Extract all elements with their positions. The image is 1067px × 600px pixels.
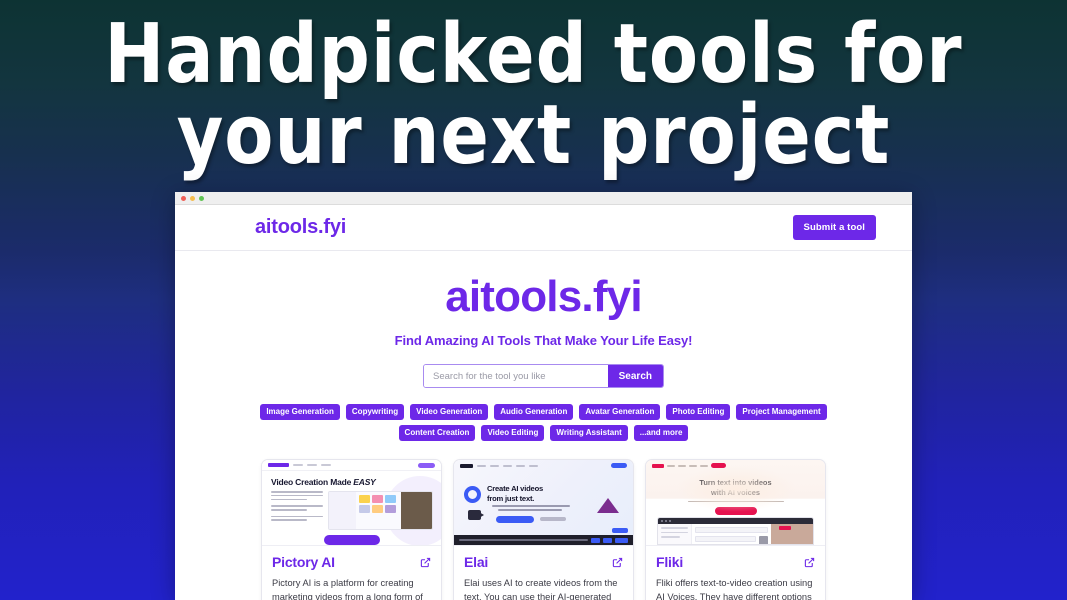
close-window-button[interactable] [181,196,186,201]
category-tag[interactable]: Copywriting [346,404,404,420]
category-tag[interactable]: Photo Editing [666,404,730,420]
thumb-headline: Create AI videos from just text. [487,484,543,504]
external-link-icon[interactable] [420,557,431,568]
elai-logo-icon [460,464,473,468]
page-content: aitools.fyi Find Amazing AI Tools That M… [175,251,912,600]
tool-card[interactable]: Video Creation Made EASY [261,459,442,600]
category-tag[interactable]: ...and more [634,425,689,441]
search-button[interactable]: Search [608,365,663,387]
tool-description: Pictory AI is a platform for creating ma… [272,577,431,600]
tool-description: Fliki offers text-to-video creation usin… [656,577,815,600]
tool-title[interactable]: Fliki [656,554,683,570]
page-title: aitools.fyi [175,275,912,319]
hero-line-2: your next project [74,95,993,176]
tool-title[interactable]: Pictory AI [272,554,335,570]
category-tag-list: Image Generation Copywriting Video Gener… [175,404,912,441]
tool-thumbnail: Video Creation Made EASY [262,460,441,546]
category-tag[interactable]: Video Generation [410,404,488,420]
category-tag[interactable]: Audio Generation [494,404,573,420]
page-subtitle: Find Amazing AI Tools That Make Your Lif… [175,333,912,348]
search-bar: Search [423,364,664,388]
browser-window: aitools.fyi Submit a tool aitools.fyi Fi… [175,192,912,600]
hero-line-1: Handpicked tools for [74,14,993,95]
category-tag[interactable]: Project Management [736,404,826,420]
browser-titlebar [175,192,912,205]
submit-a-tool-button[interactable]: Submit a tool [793,215,876,240]
category-tag[interactable]: Video Editing [481,425,544,441]
tool-description: Elai uses AI to create videos from the t… [464,577,623,600]
minimize-window-button[interactable] [190,196,195,201]
external-link-icon[interactable] [612,557,623,568]
pictory-logo-icon [268,463,289,467]
site-navbar: aitools.fyi Submit a tool [175,205,912,251]
category-tag[interactable]: Writing Assistant [550,425,627,441]
external-link-icon[interactable] [804,557,815,568]
tool-card[interactable]: Turn text into videos with AI voices [645,459,826,600]
category-tag[interactable]: Content Creation [399,425,476,441]
tool-title[interactable]: Elai [464,554,488,570]
category-tag[interactable]: Avatar Generation [579,404,660,420]
fliki-logo-icon [652,464,664,468]
search-input[interactable] [424,365,608,387]
tool-thumbnail: Turn text into videos with AI voices [646,460,825,546]
tool-thumbnail: Create AI videos from just text. [454,460,633,546]
hero-headline: Handpicked tools for your next project [0,14,1067,176]
tool-card[interactable]: Create AI videos from just text. [453,459,634,600]
category-tag[interactable]: Image Generation [260,404,340,420]
maximize-window-button[interactable] [199,196,204,201]
brand-logo[interactable]: aitools.fyi [255,216,346,239]
tool-card-grid: Video Creation Made EASY [175,459,912,600]
